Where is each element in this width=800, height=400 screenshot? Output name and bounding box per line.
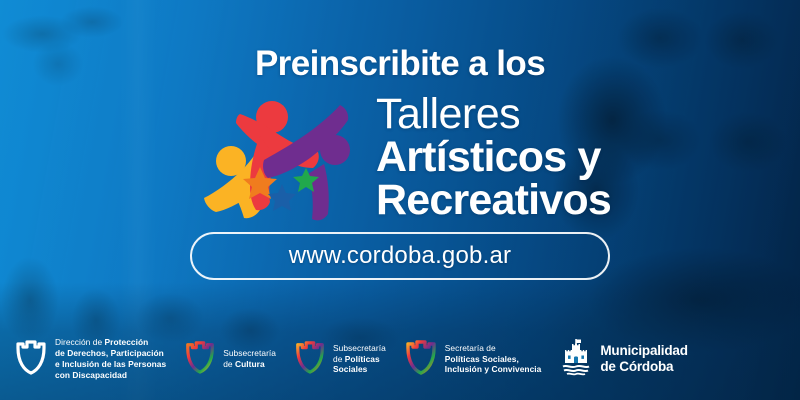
website-url-button[interactable]: www.cordoba.gob.ar (190, 232, 610, 280)
municipality-line-1: Municipalidad (600, 343, 687, 359)
logo-label: Subsecretaríade Cultura (223, 348, 276, 370)
shield-hand-icon (294, 339, 326, 380)
website-url-label: www.cordoba.gob.ar (289, 242, 511, 270)
title-block: Talleres Artísticos y Recreativos (376, 94, 611, 221)
promotional-banner: Preinscribite a los (0, 0, 800, 400)
shield-hand-icon (184, 339, 216, 380)
title-line-2: Artísticos y (376, 137, 611, 178)
logo-label: Subsecretaríade PolíticasSociales (333, 343, 386, 376)
headline: Preinscribite a los (0, 44, 800, 84)
cordoba-coat-of-arms-icon (559, 337, 593, 382)
shield-hand-icon (404, 338, 438, 381)
logo-subsecretaria-politicas-sociales: Subsecretaríade PolíticasSociales (294, 339, 386, 380)
talleres-logo-icon (200, 92, 378, 227)
logo-direccion-proteccion: Dirección de Protecciónde Derechos, Part… (14, 337, 166, 381)
logo-label: Dirección de Protecciónde Derechos, Part… (55, 337, 166, 381)
municipality-line-2: de Córdoba (600, 359, 687, 375)
municipality-label: Municipalidad de Córdoba (600, 343, 687, 375)
logo-label: Secretaría dePolíticas Sociales,Inclusió… (445, 343, 542, 376)
footer-logo-row: Dirección de Protecciónde Derechos, Part… (0, 330, 800, 388)
logo-subsecretaria-cultura: Subsecretaríade Cultura (184, 339, 276, 380)
logo-municipalidad-cordoba: Municipalidad de Córdoba (559, 337, 687, 382)
banner-content: Preinscribite a los (0, 0, 800, 400)
logo-secretaria-politicas-sociales-inclusion: Secretaría dePolíticas Sociales,Inclusió… (404, 338, 542, 381)
title-line-3: Recreativos (376, 180, 611, 221)
shield-hand-icon (14, 338, 48, 381)
title-line-1: Talleres (376, 94, 611, 135)
logo-and-title-row: Talleres Artísticos y Recreativos (200, 92, 670, 227)
